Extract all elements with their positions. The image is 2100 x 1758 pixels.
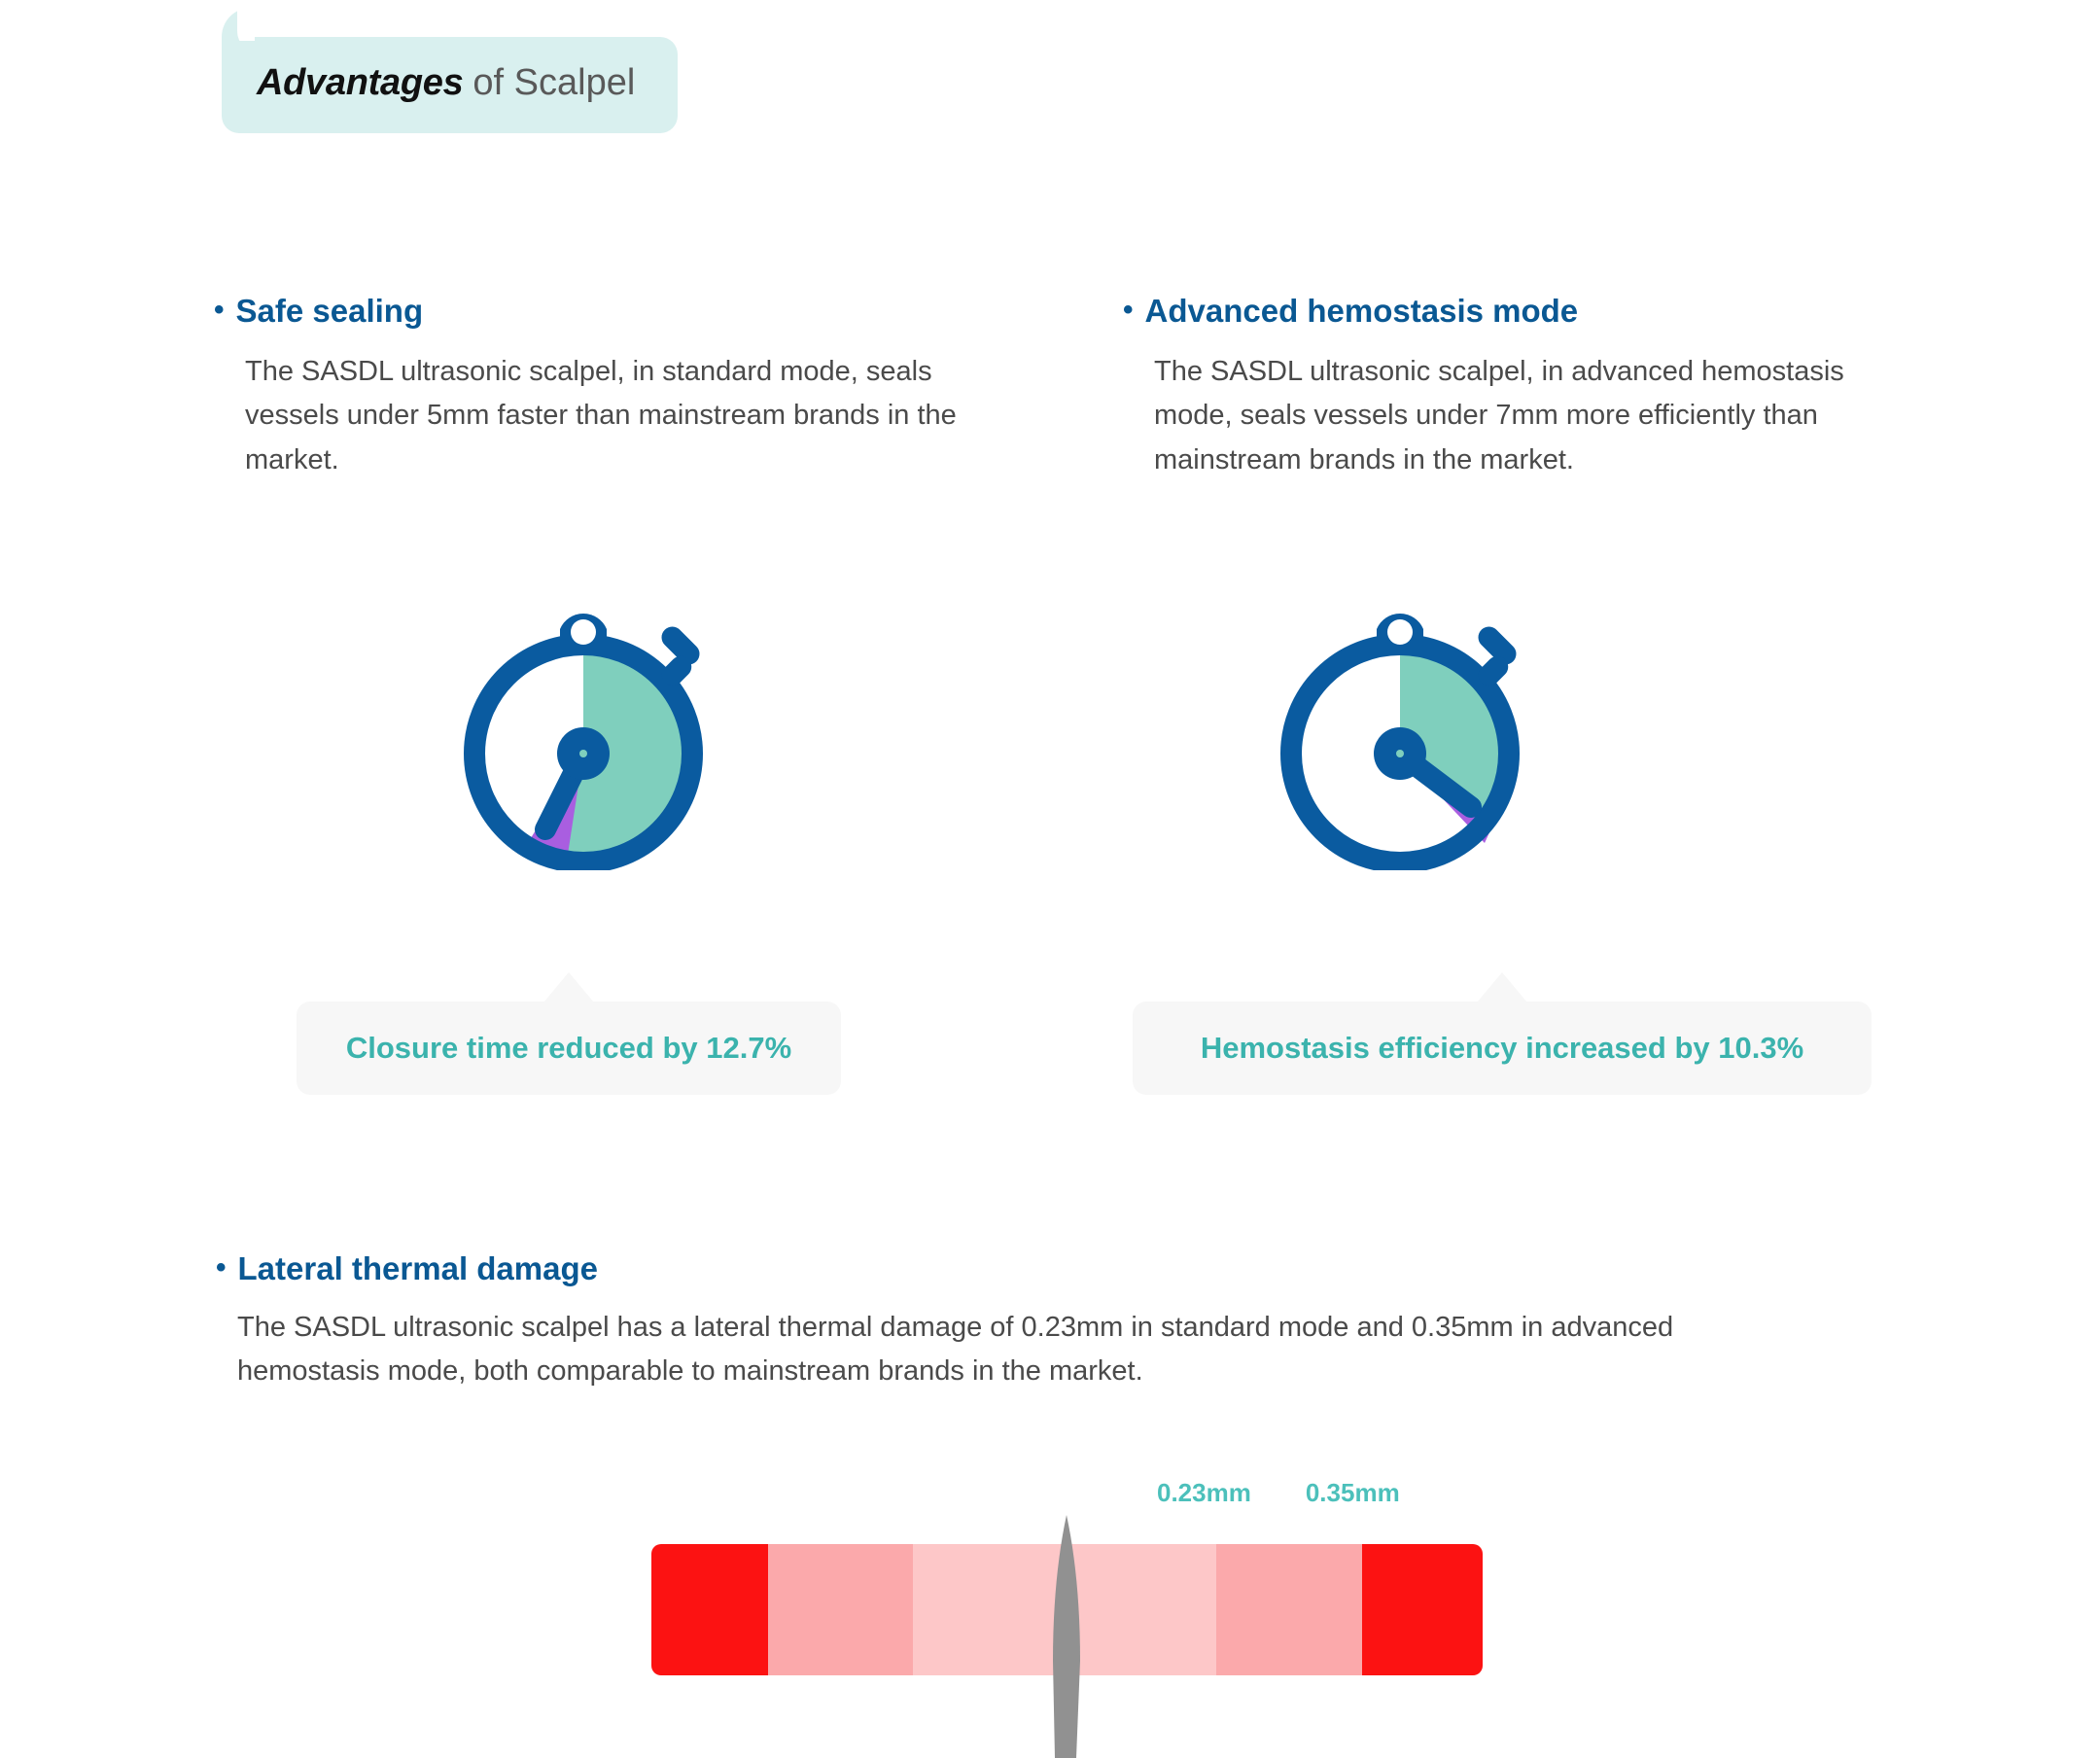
feature-title: Safe sealing	[236, 292, 424, 331]
page-title-suffix: of Scalpel	[472, 62, 635, 103]
damage-label-standard: 0.23mm	[1157, 1478, 1251, 1508]
feature-title: Advanced hemostasis mode	[1145, 292, 1579, 331]
bullet-icon: •	[214, 296, 225, 325]
damage-segment-moderate-right	[1216, 1544, 1362, 1675]
bullet-icon: •	[1123, 296, 1134, 325]
feature-heading: • Safe sealing	[214, 292, 1021, 331]
feature-title: Lateral thermal damage	[238, 1249, 598, 1288]
feature-card-safe-sealing: • Safe sealing The SASDL ultrasonic scal…	[214, 292, 1021, 483]
feature-heading: • Advanced hemostasis mode	[1123, 292, 1930, 331]
feature-card-advanced-hemostasis: • Advanced hemostasis mode The SASDL ult…	[1123, 292, 1930, 483]
feature-body: The SASDL ultrasonic scalpel has a later…	[237, 1306, 1812, 1395]
damage-label-advanced: 0.35mm	[1306, 1478, 1400, 1508]
page-title: Advantages	[257, 62, 463, 103]
callout-closure-time: Closure time reduced by 12.7%	[297, 1002, 841, 1095]
blade-marker-icon	[1043, 1515, 1090, 1758]
callout-text: Closure time reduced by 12.7%	[346, 1031, 791, 1065]
header-badge-wrap: Advantagesof Scalpel	[222, 37, 678, 133]
callout-tail-icon	[543, 972, 594, 1002]
damage-segment-moderate-left	[768, 1544, 914, 1675]
feature-body: The SASDL ultrasonic scalpel, in standar…	[245, 350, 984, 483]
stopwatch-icon	[1259, 579, 1541, 870]
callout-text: Hemostasis efficiency increased by 10.3%	[1201, 1031, 1803, 1065]
header-badge: Advantagesof Scalpel	[222, 37, 678, 133]
feature-heading: • Lateral thermal damage	[216, 1249, 1966, 1288]
damage-segment-high-damage-right	[1362, 1544, 1483, 1675]
advantages-page: Advantagesof Scalpel • Safe sealing The …	[0, 0, 2100, 1758]
thermal-damage-chart: 0.23mm 0.35mm	[0, 1478, 2100, 1758]
bullet-icon: •	[216, 1253, 227, 1283]
stopwatch-icon	[442, 579, 724, 870]
damage-scale-labels: 0.23mm 0.35mm	[1157, 1478, 1449, 1508]
callout-tail-icon	[1477, 972, 1527, 1002]
badge-tail-decoration	[222, 8, 255, 41]
damage-segment-high-damage-left	[651, 1544, 768, 1675]
callout-hemostasis-efficiency: Hemostasis efficiency increased by 10.3%	[1133, 1002, 1872, 1095]
feature-body: The SASDL ultrasonic scalpel, in advance…	[1154, 350, 1864, 483]
feature-card-lateral-thermal-damage: • Lateral thermal damage The SASDL ultra…	[216, 1249, 1966, 1394]
